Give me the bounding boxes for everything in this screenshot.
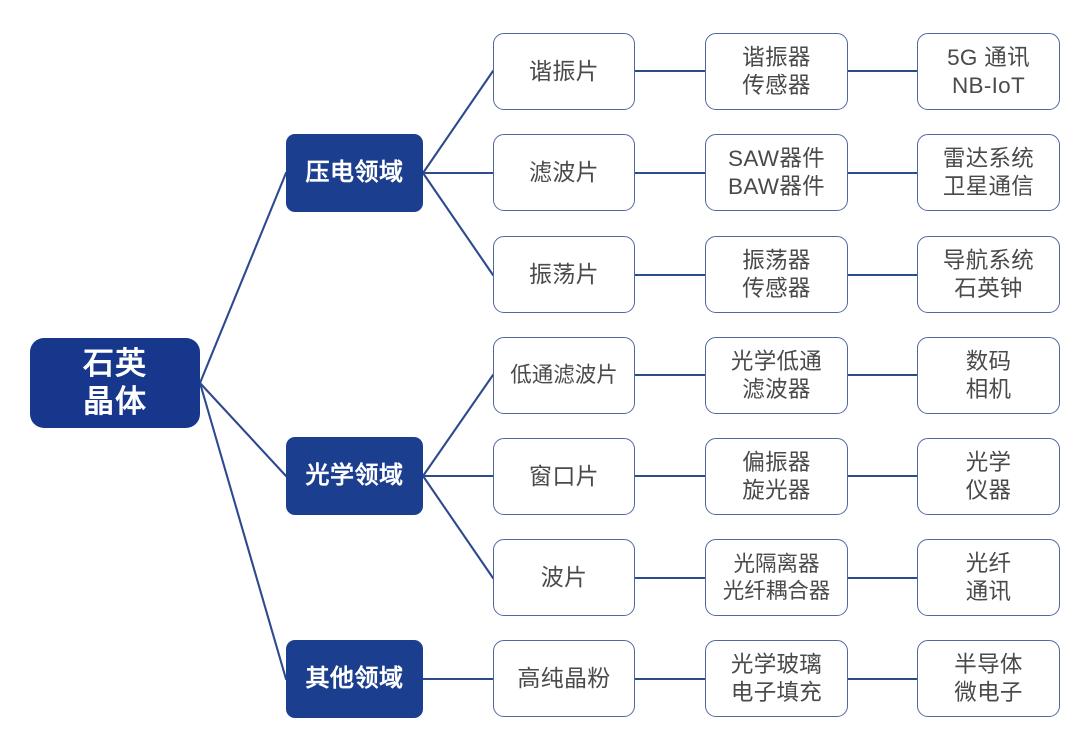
category-node-piezoelectric[interactable]: 压电领域 [286,134,423,212]
device-node-row6[interactable]: 光隔离器 光纤耦合器 [705,539,848,616]
application-node-row7[interactable]: 半导体 微电子 [917,640,1060,717]
connector-root-to-piezo [200,173,286,383]
application-node-row1[interactable]: 5G 通讯 NB-IoT [917,33,1060,110]
material-node-row3[interactable]: 振荡片 [493,236,635,313]
material-node-row1[interactable]: 谐振片 [493,33,635,110]
connector-piezo-to-row3 [423,173,493,275]
device-node-row2[interactable]: SAW器件 BAW器件 [705,134,848,211]
material-node-row5[interactable]: 窗口片 [493,438,635,515]
connector-piezo-to-row1 [423,71,493,173]
material-node-row7[interactable]: 高纯晶粉 [493,640,635,717]
device-node-row7[interactable]: 光学玻璃 电子填充 [705,640,848,717]
connector-optical-to-row4 [423,375,493,476]
connector-root-to-optical [200,383,286,476]
category-node-optical[interactable]: 光学领域 [286,437,423,515]
device-node-row3[interactable]: 振荡器 传感器 [705,236,848,313]
root-node-quartz-crystal[interactable]: 石英 晶体 [30,338,200,428]
application-node-row2[interactable]: 雷达系统 卫星通信 [917,134,1060,211]
material-node-row4[interactable]: 低通滤波片 [493,337,635,414]
category-node-other[interactable]: 其他领域 [286,640,423,718]
device-node-row1[interactable]: 谐振器 传感器 [705,33,848,110]
application-node-row4[interactable]: 数码 相机 [917,337,1060,414]
application-node-row6[interactable]: 光纤 通讯 [917,539,1060,616]
material-node-row2[interactable]: 滤波片 [493,134,635,211]
quartz-crystal-application-diagram: 石英 晶体 压电领域 光学领域 其他领域 谐振片 谐振器 传感器 5G 通讯 N… [0,0,1080,755]
application-node-row3[interactable]: 导航系统 石英钟 [917,236,1060,313]
device-node-row5[interactable]: 偏振器 旋光器 [705,438,848,515]
connector-root-to-other [200,383,286,679]
device-node-row4[interactable]: 光学低通 滤波器 [705,337,848,414]
material-node-row6[interactable]: 波片 [493,539,635,616]
application-node-row5[interactable]: 光学 仪器 [917,438,1060,515]
connector-optical-to-row6 [423,476,493,578]
